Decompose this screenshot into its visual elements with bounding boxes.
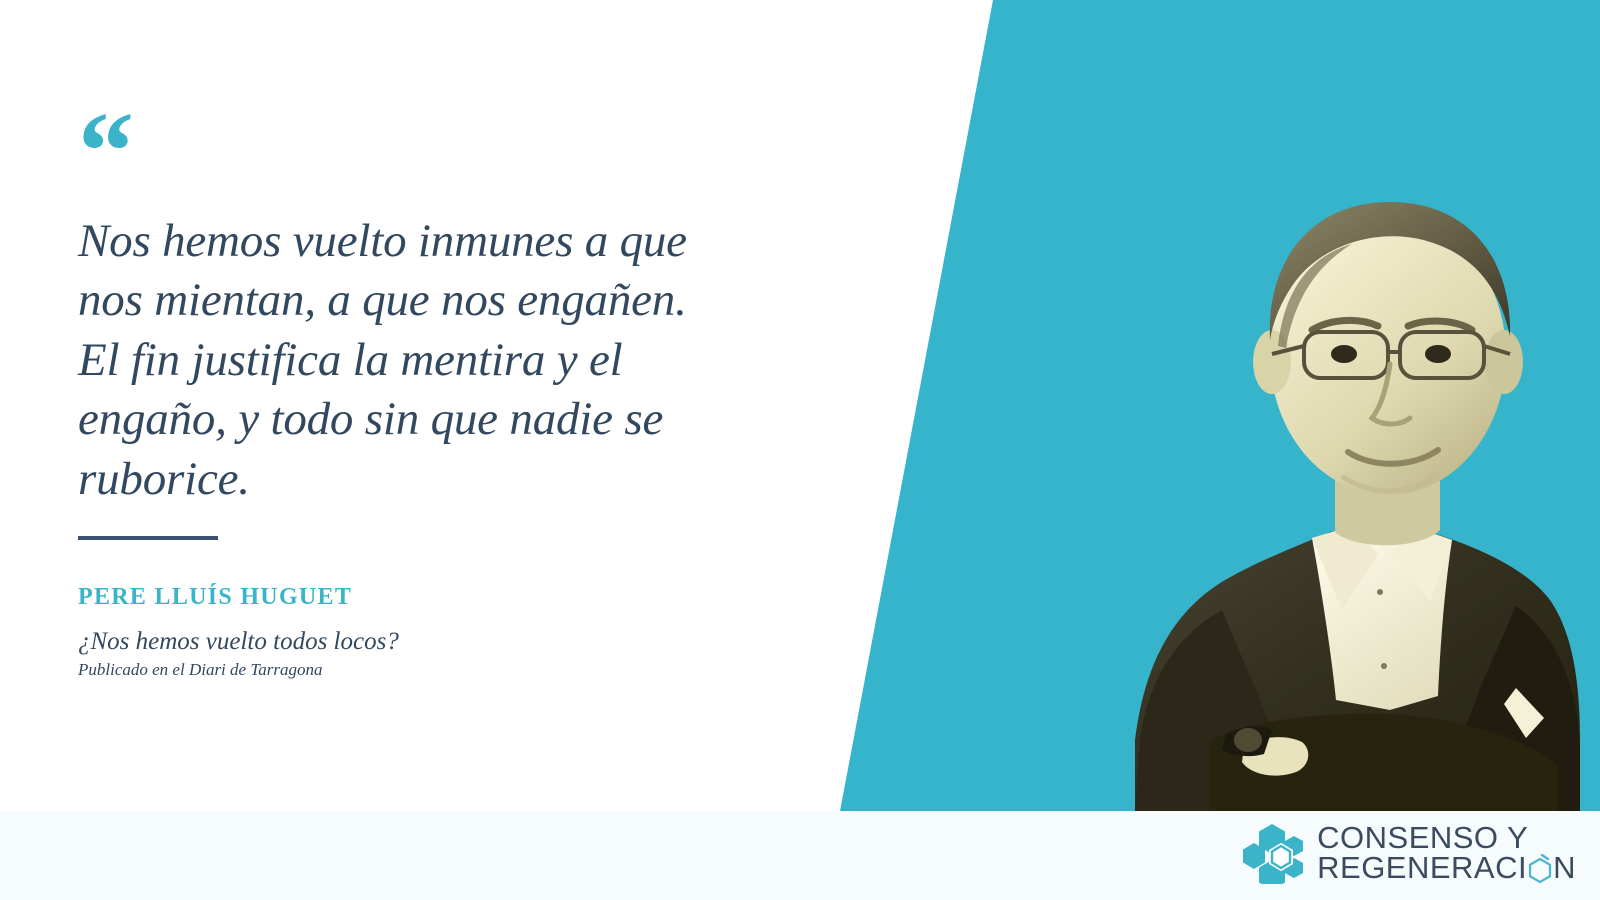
publication-source: Publicado en el Diari de Tarragona <box>78 660 322 680</box>
logo-line-1: CONSENSO Y <box>1317 823 1576 853</box>
brand-logo[interactable]: CONSENSO Y REGENERACI N <box>1241 818 1576 888</box>
logo-line-2: REGENERACI N <box>1317 853 1576 883</box>
hexagon-cluster-icon <box>1241 822 1303 884</box>
quote-card: CONSENSO Y REGENERACI N “ Nos hemos vuel… <box>0 0 1600 900</box>
article-title: ¿Nos hemos vuelto todos locos? <box>78 628 399 656</box>
logo-wordmark: CONSENSO Y REGENERACI N <box>1317 823 1576 883</box>
quote-line: El fin justifica la mentira y el <box>78 331 758 390</box>
quote-line: Nos hemos vuelto inmunes a que <box>78 212 758 271</box>
logo-line-2-after: N <box>1553 853 1576 883</box>
quote-line: nos mientan, a que nos engañen. <box>78 271 758 330</box>
open-quote-icon: “ <box>78 96 132 208</box>
author-name: PERE LLUÍS HUGUET <box>78 584 352 611</box>
quote-line: ruborice. <box>78 450 758 509</box>
quote-text: Nos hemos vuelto inmunes a que nos mient… <box>78 212 758 509</box>
divider-rule <box>78 536 218 540</box>
quote-line: engaño, y todo sin que nadie se <box>78 390 758 449</box>
portrait-image <box>960 140 1580 811</box>
logo-line-2-before: REGENERACI <box>1317 853 1527 883</box>
hexagon-o-icon <box>1527 854 1553 884</box>
